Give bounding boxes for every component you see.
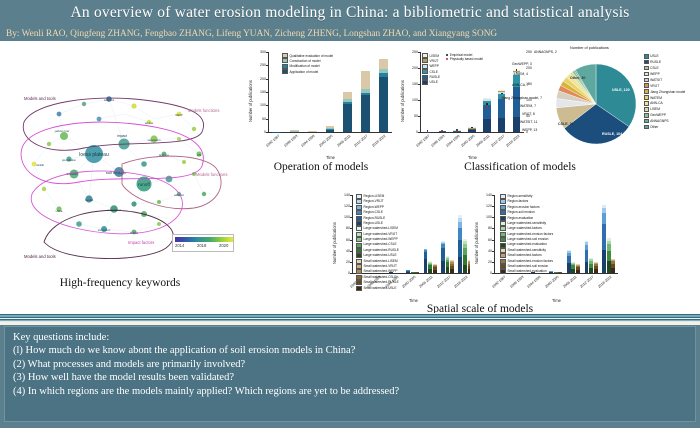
legend-row[interactable]: CSLE <box>422 69 440 74</box>
bar-segment[interactable] <box>589 259 593 261</box>
legend-row[interactable]: Region-erosion factors <box>500 205 553 210</box>
legend-label[interactable]: Region-erosion factors <box>508 206 540 209</box>
bar-segment[interactable] <box>483 119 490 132</box>
bar-segment[interactable] <box>290 131 299 132</box>
bar-segment[interactable] <box>498 118 505 132</box>
legend-label[interactable]: Small watershed-soil erosion <box>508 265 549 268</box>
y-tick[interactable]: 60 <box>339 238 350 242</box>
x-tick[interactable]: 2006-2011 <box>332 134 351 151</box>
x-tick[interactable]: 2006-2011 <box>415 275 434 292</box>
bar-segment[interactable] <box>379 77 388 132</box>
legend-swatch[interactable] <box>422 53 428 58</box>
y-tick[interactable]: 100 <box>407 98 418 102</box>
legend-row[interactable]: Region-factors <box>500 199 553 204</box>
pie-title[interactable]: Number of publications <box>570 46 609 50</box>
bar-segment[interactable] <box>589 268 593 273</box>
legend-swatch[interactable] <box>500 216 506 221</box>
legend-label[interactable]: Small watershed-USLE <box>364 287 397 290</box>
bar-segment[interactable] <box>326 130 335 132</box>
legend-row[interactable]: ANNAGNPS <box>644 119 685 124</box>
legend-row[interactable]: Region-soil erosion <box>500 210 553 215</box>
legend-label[interactable]: CSLE <box>650 66 659 70</box>
bar-segment[interactable] <box>554 272 558 273</box>
legend-row[interactable]: Large watershed-WEPP <box>356 237 399 242</box>
pie-leader-label[interactable]: WATSIT, 11 <box>520 120 537 124</box>
legend-label[interactable]: Large watershed-WEPP <box>364 238 398 241</box>
legend-swatch[interactable] <box>356 216 362 221</box>
operation-legend[interactable]: Qualitative evaluation of modelConstruct… <box>282 53 333 75</box>
bar-segment[interactable] <box>326 126 335 128</box>
bar-segment[interactable] <box>441 242 445 244</box>
y-tick[interactable]: 150 <box>407 82 418 86</box>
legend-row[interactable]: Large watershed-USLE <box>356 253 399 258</box>
bar-segment[interactable] <box>446 256 450 257</box>
bar-segment[interactable] <box>450 261 454 262</box>
bar-segment[interactable] <box>343 102 352 104</box>
legend-swatch[interactable] <box>644 119 649 124</box>
legend-swatch[interactable] <box>644 78 649 83</box>
bar-segment[interactable] <box>406 271 410 272</box>
y-tick[interactable]: 20 <box>339 260 350 264</box>
legend-label[interactable]: Small watershed-LISEM <box>364 260 398 263</box>
bar-segment[interactable] <box>576 264 580 265</box>
legend-swatch[interactable] <box>356 226 362 231</box>
legend-label[interactable]: Empirical model <box>450 53 473 57</box>
legend-row[interactable]: Small watershed-RUSLE <box>356 280 399 285</box>
y-tick[interactable]: 0 <box>255 130 266 134</box>
bar-segment[interactable] <box>483 99 490 101</box>
x-tick[interactable]: 2000-2005 <box>314 134 333 151</box>
bar-segment[interactable] <box>446 262 450 267</box>
bar-segment[interactable] <box>611 260 615 262</box>
y-tick[interactable]: 40 <box>339 249 350 253</box>
x-tick[interactable]: 1982-1987 <box>487 275 506 292</box>
legend-swatch[interactable] <box>422 69 428 74</box>
bar-segment[interactable] <box>458 215 462 218</box>
legend-row[interactable]: Small watershed-USLE <box>356 286 399 291</box>
legend-swatch[interactable] <box>644 83 649 88</box>
pie-leader-label[interactable]: Jiang Zhongshan model, 7 <box>502 96 542 100</box>
y-axis-label[interactable]: Number of publications <box>400 81 405 123</box>
legend-row[interactable]: Small watershed-soil erosion <box>500 264 553 269</box>
bar-segment[interactable] <box>446 257 450 258</box>
x-tick[interactable]: 2012-2017 <box>576 275 595 292</box>
bar-segment[interactable] <box>450 264 454 266</box>
legend-swatch[interactable] <box>644 95 649 100</box>
legend-swatch[interactable] <box>500 237 506 242</box>
bar-segment[interactable] <box>441 244 445 248</box>
legend-swatch[interactable] <box>500 248 506 253</box>
y-tick[interactable]: 100 <box>339 215 350 219</box>
bar-segment[interactable] <box>589 258 593 259</box>
x-axis-label[interactable]: Time <box>552 298 561 303</box>
legend-row[interactable]: Region-WEPP <box>356 205 399 210</box>
legend-row[interactable]: Region-RUSLE <box>356 216 399 221</box>
bar-segment[interactable] <box>433 267 437 269</box>
legend-row[interactable]: Small watershed-VRIJT <box>356 264 399 269</box>
bar-segment[interactable] <box>458 218 462 221</box>
legend-label[interactable]: Application of model <box>290 70 319 74</box>
legend-row[interactable]: Large watershed-LISEM <box>356 226 399 231</box>
legend-swatch[interactable] <box>500 194 506 199</box>
bar-segment[interactable] <box>468 130 475 132</box>
legend-label[interactable]: Other <box>650 125 658 129</box>
bar-segment[interactable] <box>567 250 571 251</box>
bar-segment[interactable] <box>607 241 611 244</box>
bar-segment[interactable] <box>308 131 317 132</box>
bar-segment[interactable] <box>441 261 445 273</box>
x-tick[interactable]: 1988-1993 <box>279 134 298 151</box>
legend-label[interactable]: VRIJT <box>650 84 659 88</box>
bar-segment[interactable] <box>571 269 575 273</box>
classification-overlay-legend[interactable]: Empirical modelPhysically based model <box>446 53 483 62</box>
legend-label[interactable]: Small watershed-CSLE <box>364 276 397 279</box>
legend-swatch[interactable] <box>500 269 506 274</box>
legend-row[interactable]: Small watershed-LISEM <box>356 259 399 264</box>
legend-label[interactable]: RUSLE <box>650 60 661 64</box>
bar-segment[interactable] <box>602 205 606 208</box>
bar-segment[interactable] <box>450 260 454 261</box>
legend-row[interactable]: Large watershed-soil erosion <box>500 237 553 242</box>
bar-segment[interactable] <box>441 241 445 242</box>
legend-row[interactable]: Small watershed-evaluation <box>500 269 553 274</box>
legend-label[interactable]: Large watershed-evaluation <box>508 243 547 246</box>
legend-swatch[interactable] <box>422 58 428 63</box>
legend-marker[interactable] <box>446 54 448 56</box>
y-tick[interactable]: 200 <box>407 66 418 70</box>
legend-label[interactable]: Qualitative evaluation of model <box>290 54 334 58</box>
bar-segment[interactable] <box>576 266 580 268</box>
legend-swatch[interactable] <box>356 205 362 210</box>
bar-segment[interactable] <box>576 270 580 273</box>
legend-row[interactable]: Large watershed-sensitivity <box>500 221 553 226</box>
bar-segment[interactable] <box>441 242 445 243</box>
legend-swatch[interactable] <box>356 243 362 248</box>
legend-swatch[interactable] <box>282 58 288 63</box>
bar-segment[interactable] <box>463 255 467 265</box>
legend-label[interactable]: Large watershed-erosion factors <box>508 233 554 236</box>
legend-row[interactable]: WATSIT <box>644 78 685 83</box>
legend-swatch[interactable] <box>644 107 649 112</box>
legend-swatch[interactable] <box>356 237 362 242</box>
legend-label[interactable]: Large watershed-RUSLE <box>364 249 399 252</box>
bar-segment[interactable] <box>458 222 462 229</box>
bar-segment[interactable] <box>446 260 450 263</box>
legend-row[interactable]: LISEM <box>644 107 685 112</box>
bar-segment[interactable] <box>361 93 370 96</box>
legend-label[interactable]: Large watershed-sensitivity <box>508 222 547 225</box>
legend-label[interactable]: Large watershed-USLE <box>364 254 397 257</box>
bar-segment[interactable] <box>424 252 428 259</box>
bar-segment[interactable] <box>361 89 370 92</box>
legend-label[interactable]: Region-factors <box>508 200 529 203</box>
legend-row[interactable]: GeoWEPP <box>644 113 685 118</box>
legend-label[interactable]: Modification of model <box>290 64 320 68</box>
legend-label[interactable]: Region-WEPP <box>364 206 385 209</box>
legend-label[interactable]: Region-soil erosion <box>508 211 535 214</box>
legend-row[interactable]: Region-sensitivity <box>500 194 553 199</box>
legend-label[interactable]: LISEM <box>430 54 440 58</box>
legend-row[interactable]: Small watershed-factors <box>500 253 553 258</box>
legend-swatch[interactable] <box>356 248 362 253</box>
bar-segment[interactable] <box>433 264 437 265</box>
bar-segment[interactable] <box>576 267 580 269</box>
y-tick[interactable]: 50 <box>255 117 266 121</box>
bar-segment[interactable] <box>571 265 575 268</box>
bar-segment[interactable] <box>483 98 490 99</box>
legend-label[interactable]: CSLE <box>430 70 438 74</box>
bar-segment[interactable] <box>428 265 432 268</box>
legend-row[interactable]: Large watershed-RUSLE <box>356 248 399 253</box>
bar-segment[interactable] <box>428 269 432 273</box>
bar-segment[interactable] <box>326 128 335 129</box>
pie-leader-label[interactable]: ANNAGNPS, 2 <box>534 50 557 54</box>
bar-segment[interactable] <box>428 261 432 262</box>
bar-segment[interactable] <box>513 117 520 132</box>
bar-segment[interactable] <box>589 261 593 264</box>
bar-segment[interactable] <box>428 262 432 263</box>
legend-swatch[interactable] <box>644 72 649 77</box>
bar-segment[interactable] <box>379 73 388 78</box>
bar-segment[interactable] <box>585 241 589 243</box>
legend-label[interactable]: Region-LISEM <box>364 195 385 198</box>
bar-segment[interactable] <box>498 99 505 118</box>
legend-swatch[interactable] <box>500 226 506 231</box>
bar-segment[interactable] <box>343 104 352 132</box>
spatial-model-legend[interactable]: Region-LISEMRegion-VRIJTRegion-WEPPRegio… <box>356 194 399 291</box>
y-tick[interactable]: 100 <box>255 103 266 107</box>
y-axis-label[interactable]: Number of publications <box>474 222 479 264</box>
legend-swatch[interactable] <box>282 69 288 74</box>
legend-row[interactable]: WEPP <box>422 64 440 69</box>
x-tick[interactable]: 1994-1999 <box>296 134 315 151</box>
legend-swatch[interactable] <box>422 64 428 69</box>
legend-label[interactable]: RUSLE <box>430 75 441 79</box>
legend-row[interactable]: VRIJT <box>644 83 685 88</box>
bar-segment[interactable] <box>498 90 505 91</box>
pie-leader-label[interactable]: VRIJT, 8 <box>522 112 535 116</box>
y-tick[interactable]: 20 <box>481 260 492 264</box>
legend-label[interactable]: Small watershed-sensitivity <box>508 249 546 252</box>
bar-segment[interactable] <box>607 238 611 240</box>
legend-swatch[interactable] <box>644 54 649 59</box>
y-tick[interactable]: 120 <box>339 204 350 208</box>
bar-segment[interactable] <box>602 250 606 273</box>
y-tick-right[interactable]: 200 <box>526 66 537 70</box>
legend-label[interactable]: WATSIT <box>650 78 662 82</box>
bar-segment[interactable] <box>411 272 415 273</box>
legend-label[interactable]: GeoWEPP <box>650 113 666 117</box>
pie-leader-label[interactable]: WATEM, 7 <box>520 104 536 108</box>
bar-segment[interactable] <box>567 256 571 263</box>
legend-label[interactable]: ANN-CA <box>650 101 663 105</box>
legend-row[interactable]: VRIJT <box>422 58 440 63</box>
bar-segment[interactable] <box>611 259 615 260</box>
x-axis-label[interactable]: Time <box>326 155 335 160</box>
legend-label[interactable]: Region-USLE <box>364 222 384 225</box>
legend-label[interactable]: LISEM <box>650 107 660 111</box>
bar-segment[interactable] <box>567 253 571 256</box>
legend-label[interactable]: Large watershed-soil erosion <box>508 238 549 241</box>
bar-segment[interactable] <box>463 241 467 244</box>
legend-swatch[interactable] <box>356 275 362 280</box>
legend-swatch[interactable] <box>356 280 362 285</box>
bar-segment[interactable] <box>611 264 615 268</box>
bar-segment[interactable] <box>513 87 520 116</box>
legend-row[interactable]: Application of model <box>282 69 333 74</box>
bar-segment[interactable] <box>602 213 606 224</box>
bar-segment[interactable] <box>361 71 370 89</box>
legend-swatch[interactable] <box>500 243 506 248</box>
legend-row[interactable]: Large watershed-factors <box>500 226 553 231</box>
bar-segment[interactable] <box>424 259 428 273</box>
legend-label[interactable]: Large watershed-VRIJT <box>364 233 398 236</box>
x-tick[interactable]: 2000-2005 <box>540 275 559 292</box>
y-tick[interactable]: 0 <box>481 271 492 275</box>
pie-slice-label[interactable]: CSLE, 31 <box>558 122 574 126</box>
legend-row[interactable]: ANN-CA <box>644 101 685 106</box>
bar-segment[interactable] <box>602 208 606 212</box>
pie-leader-label[interactable]: ANN-CA, 7 <box>512 83 529 87</box>
legend-row[interactable]: Small watershed-sensitivity <box>500 248 553 253</box>
legend-label[interactable]: Physically based model <box>450 57 483 61</box>
bar-segment[interactable] <box>433 266 437 268</box>
legend-label[interactable]: WATEM <box>650 96 662 100</box>
legend-swatch[interactable] <box>356 221 362 226</box>
legend-row[interactable]: LISEM <box>422 53 440 58</box>
legend-swatch[interactable] <box>500 221 506 226</box>
y-tick[interactable]: 50 <box>407 114 418 118</box>
bar-segment[interactable] <box>498 91 505 92</box>
pie-slice-label[interactable]: USLE, 120 <box>612 88 630 92</box>
x-tick[interactable]: 1994-1999 <box>522 275 541 292</box>
legend-swatch[interactable] <box>356 194 362 199</box>
bar-segment[interactable] <box>361 95 370 132</box>
y-tick[interactable]: 250 <box>407 50 418 54</box>
bar-segment[interactable] <box>415 272 419 273</box>
legend-label[interactable]: Small watershed-WEPP <box>364 270 398 273</box>
legend-label[interactable]: VRIJT <box>430 59 439 63</box>
bar-segment[interactable] <box>458 240 462 258</box>
legend-row[interactable]: Region-evaluation <box>500 216 553 221</box>
legend-swatch[interactable] <box>282 53 288 58</box>
legend-marker[interactable] <box>446 58 448 60</box>
legend-swatch[interactable] <box>356 210 362 215</box>
bar-segment[interactable] <box>446 267 450 273</box>
bar-segment[interactable] <box>483 98 490 99</box>
legend-row[interactable]: Other <box>644 125 685 130</box>
pie-leader-label[interactable]: WEPP, 13 <box>522 128 537 132</box>
y-tick[interactable]: 60 <box>481 238 492 242</box>
bar-segment[interactable] <box>585 245 589 250</box>
bar-segment[interactable] <box>406 271 410 273</box>
x-tick[interactable]: 2018-2022 <box>449 275 468 292</box>
legend-swatch[interactable] <box>500 264 506 269</box>
legend-row[interactable]: Small watershed-erosion factors <box>500 259 553 264</box>
y-tick[interactable]: 140 <box>481 193 492 197</box>
y-tick[interactable]: 80 <box>481 226 492 230</box>
x-tick[interactable]: 2012-2017 <box>432 275 451 292</box>
legend-row[interactable]: USLE <box>422 80 440 85</box>
bar-segment[interactable] <box>594 264 598 266</box>
legend-row[interactable]: Region-USLE <box>356 221 399 226</box>
x-tick[interactable]: 2006-2011 <box>558 275 577 292</box>
bar-segment[interactable] <box>607 244 611 251</box>
bar-segment[interactable] <box>450 262 454 264</box>
legend-label[interactable]: Small watershed-VRIJT <box>364 265 397 268</box>
legend-swatch[interactable] <box>644 66 649 71</box>
x-tick[interactable]: 2018-2022 <box>367 134 386 151</box>
bar-segment[interactable] <box>379 69 388 73</box>
bar-segment[interactable] <box>428 262 432 263</box>
legend-label[interactable]: Construction of model <box>290 59 321 63</box>
bar-segment[interactable] <box>558 272 562 273</box>
legend-swatch[interactable] <box>356 269 362 274</box>
x-tick[interactable]: 1988-1993 <box>505 275 524 292</box>
overlay-point[interactable] <box>486 103 488 105</box>
bar-segment[interactable] <box>571 262 575 263</box>
legend-row[interactable]: USLE <box>644 54 685 59</box>
legend-label[interactable]: Large watershed-factors <box>508 227 542 230</box>
overlay-point[interactable] <box>456 130 458 132</box>
bar-segment[interactable] <box>379 59 388 68</box>
legend-label[interactable]: Region-RUSLE <box>364 217 386 220</box>
y-tick[interactable]: 150 <box>255 90 266 94</box>
legend-label[interactable]: Small watershed-erosion factors <box>508 260 554 263</box>
legend-swatch[interactable] <box>356 232 362 237</box>
bar-segment[interactable] <box>594 262 598 263</box>
y-axis-label[interactable]: Number of publications <box>248 81 253 123</box>
legend-swatch[interactable] <box>500 199 506 204</box>
bar-segment[interactable] <box>463 265 467 273</box>
x-axis-label[interactable]: Time <box>468 155 477 160</box>
y-tick[interactable]: 120 <box>481 204 492 208</box>
y-axis-label[interactable]: Number of publications <box>332 222 337 264</box>
legend-swatch[interactable] <box>356 259 362 264</box>
legend-row[interactable]: Large watershed-VRIJT <box>356 232 399 237</box>
legend-label[interactable]: ANNAGNPS <box>650 119 669 123</box>
bar-segment[interactable] <box>415 272 419 273</box>
legend-swatch[interactable] <box>356 199 362 204</box>
bar-segment[interactable] <box>406 270 410 271</box>
spatial-topic-legend[interactable]: Region-sensitivityRegion-factorsRegion-e… <box>500 194 553 275</box>
bar-segment[interactable] <box>585 262 589 273</box>
pie-legend[interactable]: USLERUSLECSLEWEPPWATSITVRIJTJiang Zhongs… <box>644 54 685 131</box>
legend-swatch[interactable] <box>500 210 506 215</box>
legend-row[interactable]: Large watershed-erosion factors <box>500 232 553 237</box>
bar-segment[interactable] <box>424 249 428 250</box>
y-tick[interactable]: 40 <box>481 249 492 253</box>
legend-label[interactable]: WEPP <box>430 64 439 68</box>
legend-row[interactable]: RUSLE <box>422 75 440 80</box>
bar-segment[interactable] <box>450 269 454 273</box>
bar-segment[interactable] <box>458 228 462 239</box>
y-tick[interactable]: 0 <box>339 271 350 275</box>
x-tick[interactable]: 1982-1987 <box>261 134 280 151</box>
x-tick[interactable]: 2018-2022 <box>593 275 612 292</box>
legend-label[interactable]: USLE <box>650 54 659 58</box>
bar-segment[interactable] <box>428 264 432 266</box>
bar-segment[interactable] <box>607 261 611 273</box>
bar-segment[interactable] <box>571 262 575 263</box>
y-tick[interactable]: 100 <box>481 215 492 219</box>
bar-segment[interactable] <box>571 264 575 266</box>
y-tick[interactable]: 140 <box>339 193 350 197</box>
legend-label[interactable]: Large watershed-LISEM <box>364 227 398 230</box>
legend-row[interactable]: Region-CSLE <box>356 210 399 215</box>
bar-segment[interactable] <box>433 265 437 266</box>
bar-segment[interactable] <box>611 268 615 273</box>
